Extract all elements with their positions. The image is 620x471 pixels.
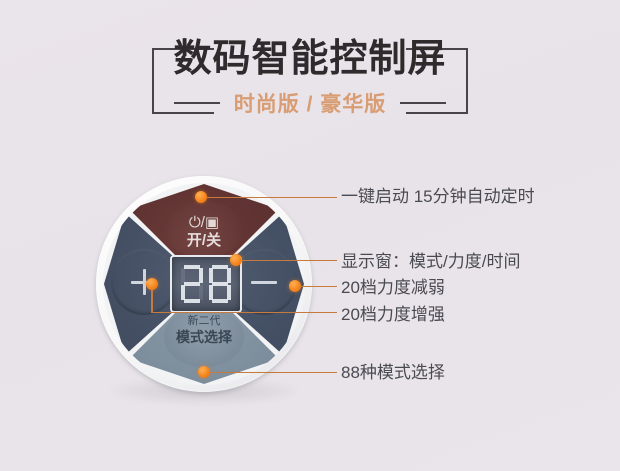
led-digit-2 xyxy=(208,265,232,303)
power-icon: ⏻/▣ xyxy=(165,215,243,231)
page-root: 数码智能控制屏 时尚版 / 豪华版 ⏻/▣ 开/关 xyxy=(0,0,620,471)
page-title: 数码智能控制屏 xyxy=(0,36,620,82)
callout-line-display xyxy=(242,260,337,261)
callout-dot-plus[interactable] xyxy=(146,278,158,290)
callout-label-power: 一键启动 15分钟自动定时 xyxy=(341,186,535,208)
callout-dot-power[interactable] xyxy=(195,191,207,203)
callout-label-increase: 20档力度增强 xyxy=(341,304,445,326)
mode-generation-label: 新二代 xyxy=(164,315,244,328)
callout-dot-mode[interactable] xyxy=(198,366,210,378)
power-button-label: 开/关 xyxy=(165,232,243,249)
callout-line-plus-vertical xyxy=(151,290,152,313)
subtitle-line-left xyxy=(174,102,220,104)
led-digit-1 xyxy=(180,265,204,303)
callout-line-power xyxy=(207,197,337,198)
device-face: ⏻/▣ 开/关 新二代 模式选择 xyxy=(103,183,305,385)
callout-line-minus xyxy=(301,286,337,287)
callout-line-plus-horizontal xyxy=(151,312,337,313)
callout-line-mode xyxy=(210,372,337,373)
callout-label-decrease: 20档力度减弱 xyxy=(341,277,445,299)
callout-label-display: 显示窗：模式/力度/时间 xyxy=(341,251,520,273)
control-panel-device: ⏻/▣ 开/关 新二代 模式选择 xyxy=(96,176,312,392)
subtitle-line-right xyxy=(400,102,446,104)
callout-label-mode: 88种模式选择 xyxy=(341,362,445,384)
callout-dot-minus[interactable] xyxy=(289,280,301,292)
plus-button-pad[interactable] xyxy=(111,249,177,315)
page-subtitle: 时尚版 / 豪华版 xyxy=(234,88,387,118)
subtitle-row: 时尚版 / 豪华版 xyxy=(0,88,620,118)
plus-icon xyxy=(111,249,177,315)
mode-select-pad[interactable]: 新二代 模式选择 xyxy=(164,309,244,367)
callout-dot-display[interactable] xyxy=(230,254,242,266)
mode-select-label: 模式选择 xyxy=(164,329,244,345)
title-block: 数码智能控制屏 时尚版 / 豪华版 xyxy=(0,36,620,128)
